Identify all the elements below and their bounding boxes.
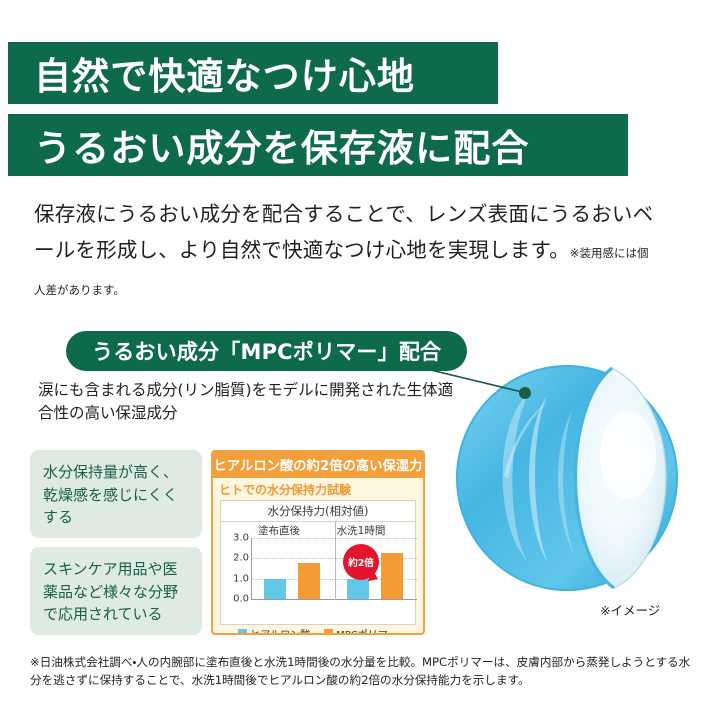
headline-secondary: うるおい成分を保存液に配合	[8, 114, 628, 176]
legend-label-mpc: MPCポリマー	[336, 626, 398, 635]
chart-category-label-0: 塗布直後	[239, 523, 319, 538]
approx-2x-badge: 約2倍	[343, 544, 379, 580]
moisture-chart-panel: ヒアルロン酸の約2倍の高い保湿力 ヒトでの水分保持力試験 水分保持力(相対値) …	[211, 450, 425, 635]
headline-primary: 自然で快適なつけ心地	[8, 42, 498, 104]
legend-swatch-hyaluronic	[238, 629, 247, 635]
chart-bar-mpc-immediate	[298, 563, 320, 599]
chart-legend: ヒアルロン酸 MPCポリマー	[221, 622, 415, 635]
chart-group-divider	[335, 522, 336, 600]
feature-box-moisture-retention: 水分保持量が高く、乾燥感を感じにくくする	[30, 450, 202, 538]
chart-ytick-2: 2.0	[233, 553, 249, 564]
legend-item-mpc: MPCポリマー	[324, 626, 398, 635]
chart-card: 水分保持力(相対値) 塗布直後 水洗1時間 3.0 2.0 1.0 0.0	[220, 500, 416, 625]
lens-image-caption: ※イメージ	[600, 600, 660, 619]
chart-plot-area: 塗布直後 水洗1時間 3.0 2.0 1.0 0.0 約2倍	[221, 522, 415, 622]
legend-item-hyaluronic: ヒアルロン酸	[238, 626, 310, 635]
chart-panel-subtitle: ヒトでの水分保持力試験	[213, 478, 423, 500]
legend-swatch-mpc	[324, 629, 333, 635]
chart-category-label-1: 水洗1時間	[321, 523, 401, 538]
footnote-text: ※日油株式会社調べ・人の内腕部に塗布直後と水洗1時間後の水分量を比較。MPCポリ…	[30, 654, 694, 689]
chart-bar-hyaluronic-1hour	[347, 579, 369, 599]
chart-bar-mpc-1hour	[381, 553, 403, 599]
chart-title: 水分保持力(相対値)	[221, 501, 415, 522]
lead-text: 保存液にうるおい成分を配合することで、レンズ表面にうるおいベールを形成し、より自…	[34, 202, 653, 262]
mpc-polymer-callout-pill: うるおい成分「MPCポリマー」配合	[66, 331, 467, 371]
legend-label-hyaluronic: ヒアルロン酸	[250, 626, 310, 635]
chart-ytick-0: 0.0	[233, 594, 249, 605]
infographic-page: 自然で快適なつけ心地 うるおい成分を保存液に配合 保存液にうるおい成分を配合する…	[0, 0, 720, 720]
chart-panel-header: ヒアルロン酸の約2倍の高い保湿力	[213, 452, 423, 478]
chart-ytick-1: 1.0	[233, 573, 249, 584]
lead-paragraph: 保存液にうるおい成分を配合することで、レンズ表面にうるおいベールを形成し、より自…	[34, 196, 654, 305]
chart-bar-hyaluronic-immediate	[264, 579, 286, 599]
chart-axes: 3.0 2.0 1.0 0.0	[251, 538, 417, 600]
feature-box-applications: スキンケア用品や医薬品など様々な分野で応用されている	[30, 547, 202, 635]
chart-ytick-3: 3.0	[233, 533, 249, 544]
